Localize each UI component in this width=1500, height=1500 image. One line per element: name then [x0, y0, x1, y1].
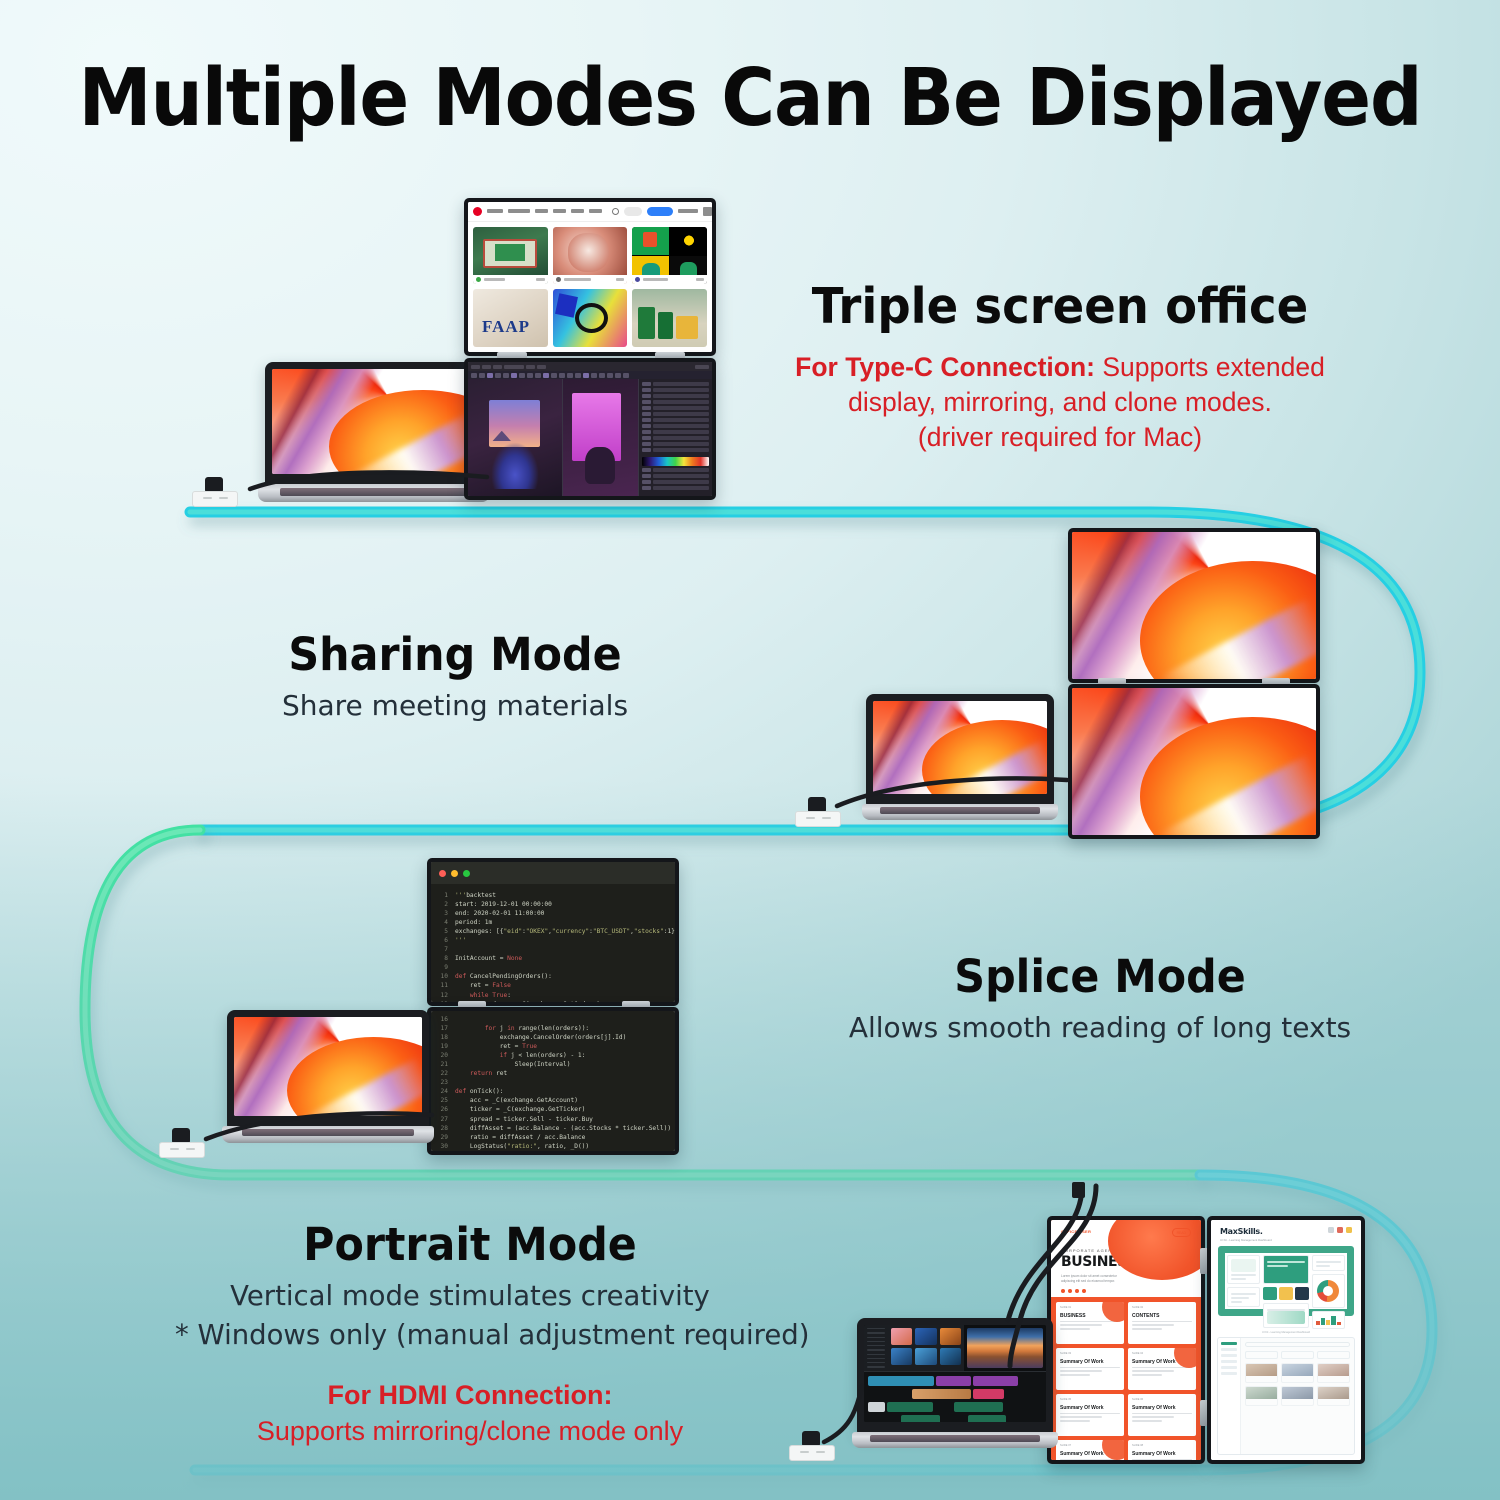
code-line: 11 ret = False [435, 981, 669, 990]
code-line: 21 Sleep(Interval) [435, 1060, 669, 1069]
donut-chart [1317, 1280, 1339, 1302]
gallery-card[interactable] [553, 227, 628, 285]
properties-panel[interactable] [639, 379, 712, 496]
section-portrait-mode: Portrait Mode Vertical mode stimulates c… [175, 1222, 765, 1449]
section-triple-screen-office: Triple screen office For Type-C Connecti… [760, 282, 1360, 455]
maxskills-screen: MaxSkills. UI Kit - Learning Management … [1211, 1220, 1361, 1460]
media-bin[interactable] [888, 1325, 964, 1371]
portable-monitor-bottom-code: 1617 for j in range(len(orders)):18 exch… [427, 1007, 679, 1155]
section-heading: Sharing Mode [251, 632, 660, 679]
minimize-icon[interactable] [451, 870, 458, 877]
ppt-thumbnail[interactable]: SLIDE 08Summary Of Work [1128, 1440, 1196, 1460]
portable-monitor-bottom-3d [464, 358, 716, 500]
section-subtitle-1: Vertical mode stimulates creativity [175, 1279, 765, 1314]
maxskills-tagline-2: UI Kit - Learning Management Dashboard [1211, 1331, 1361, 1334]
ppt-thumbnail[interactable]: SLIDE 06Summary Of Work [1128, 1394, 1196, 1436]
page-title: Multiple Modes Can Be Displayed [53, 52, 1448, 144]
section-heading: Triple screen office [775, 282, 1345, 333]
ppt-thumbnail[interactable]: SLIDE 07Summary Of Work [1056, 1440, 1124, 1460]
gallery-card[interactable] [553, 289, 628, 347]
3d-editor-screen [468, 362, 712, 496]
code-line: 20 if j < len(orders) - 1: [435, 1051, 669, 1060]
note-bold: For Type-C Connection: [795, 352, 1095, 382]
section-splice-mode: Splice Mode Allows smooth reading of lon… [815, 954, 1385, 1046]
wall-socket [789, 1445, 835, 1461]
portable-monitor-top-pinterest: FAAP [464, 198, 716, 356]
code-line: 19 ret = True [435, 1042, 669, 1051]
section-subtitle: Share meeting materials [240, 688, 670, 724]
code-line: 1'''backtest [435, 891, 669, 900]
gallery-card[interactable] [473, 227, 548, 285]
note-line3: (driver required for Mac) [760, 420, 1360, 455]
section-sharing-mode: Sharing Mode Share meeting materials [240, 632, 670, 724]
gallery-card[interactable] [632, 289, 707, 347]
thumb-title: Summary Of Work [1132, 1405, 1192, 1411]
nav-item[interactable] [571, 209, 584, 213]
code-editor-screen-bottom: 1617 for j in range(len(orders)):18 exch… [431, 1011, 675, 1151]
nav-item[interactable] [678, 209, 698, 213]
monitor-screen-wallpaper [1072, 532, 1316, 679]
secondary-button[interactable] [624, 207, 642, 216]
note-line2: Supports mirroring/clone mode only [175, 1414, 765, 1450]
monitor-screen-wallpaper [1072, 688, 1316, 835]
code-line: 18 exchange.CancelOrder(orders[j].Id) [435, 1033, 669, 1042]
code-line: 7 [435, 945, 669, 954]
viewport-render[interactable] [563, 379, 639, 496]
maxskills-showcase [1218, 1246, 1354, 1316]
code-line: 24def onTick(): [435, 1087, 669, 1096]
thumb-label: SLIDE 06 [1132, 1398, 1192, 1401]
wall-socket [159, 1142, 205, 1158]
maxskills-logo: MaxSkills. [1220, 1227, 1272, 1236]
code-line: 25 acc = _C(exchange.GetAccount) [435, 1096, 669, 1105]
power-cable [195, 455, 495, 515]
pinterest-logo-icon [473, 207, 482, 216]
gallery-navbar[interactable] [468, 202, 712, 222]
portable-monitor-upper-sharing [1068, 528, 1320, 683]
maxskills-header: MaxSkills. UI Kit - Learning Management … [1211, 1220, 1361, 1246]
gallery-grid: FAAP [468, 222, 712, 353]
code-line: 2start: 2019-12-01 00:00:00 [435, 900, 669, 909]
note-line2: display, mirroring, and clone modes. [760, 385, 1360, 420]
code-line: 28 diffAsset = (acc.Balance - (acc.Stock… [435, 1124, 669, 1133]
nav-item[interactable] [535, 209, 548, 213]
create-button[interactable] [647, 207, 673, 216]
code-line: 17 for j in range(len(orders)): [435, 1024, 669, 1033]
code-line: 23 [435, 1078, 669, 1087]
gallery-card[interactable] [632, 227, 707, 285]
gear-icon[interactable] [1328, 1227, 1334, 1233]
gallery-card[interactable]: FAAP [473, 289, 548, 347]
wall-socket [192, 491, 238, 507]
nav-item[interactable] [589, 209, 602, 213]
code-line: 6''' [435, 936, 669, 945]
code-line: 29 ratio = diffAsset / acc.Balance [435, 1133, 669, 1142]
thumb-label: SLIDE 05 [1060, 1398, 1120, 1401]
search-input[interactable] [1245, 1342, 1350, 1347]
code-line: 9 [435, 963, 669, 972]
thumb-title: Summary Of Work [1060, 1405, 1120, 1411]
section-subtitle-2: * Windows only (manual adjustment requir… [175, 1318, 765, 1353]
nav-item[interactable] [487, 209, 503, 213]
window-titlebar [431, 862, 675, 884]
category-row[interactable] [1245, 1351, 1350, 1359]
section-heading: Portrait Mode [190, 1222, 751, 1269]
ppt-tag[interactable]: READ [1172, 1228, 1191, 1237]
code-editor-screen-top: 1'''backtest2start: 2019-12-01 00:00:003… [431, 862, 675, 1002]
logo-part-b: Skills. [1238, 1227, 1263, 1236]
portable-monitor-right-maxskills: MaxSkills. UI Kit - Learning Management … [1207, 1216, 1365, 1464]
display-cable [1000, 1180, 1140, 1370]
maxskills-course-browser[interactable] [1217, 1337, 1355, 1455]
section-note: For Type-C Connection: Supports extended… [760, 350, 1360, 455]
code-line: 4period: 1m [435, 918, 669, 927]
browser-main [1241, 1338, 1354, 1454]
close-icon[interactable] [439, 870, 446, 877]
project-panel[interactable] [864, 1325, 888, 1371]
code-line: 26 ticker = _C(exchange.GetTicker) [435, 1105, 669, 1114]
nav-item[interactable] [553, 209, 566, 213]
maximize-icon[interactable] [463, 870, 470, 877]
portable-monitor-lower-sharing [1068, 684, 1320, 839]
code-line: 3end: 2020-02-01 11:00:00 [435, 909, 669, 918]
ppt-thumbnail[interactable]: SLIDE 05Summary Of Work [1056, 1394, 1124, 1436]
code-line: 27 spread = ticker.Sell - ticker.Buy [435, 1115, 669, 1124]
usb-c-plug [1072, 1182, 1085, 1198]
profile-icon[interactable] [703, 207, 712, 216]
code-line: 10def CancelPendingOrders(): [435, 972, 669, 981]
thumb-label: SLIDE 08 [1132, 1444, 1192, 1447]
search-icon[interactable] [612, 208, 619, 215]
bell-icon[interactable] [1346, 1227, 1352, 1233]
infographic-stage: Multiple Modes Can Be Displayed [0, 0, 1500, 1500]
note-bold: For HDMI Connection: [175, 1378, 765, 1414]
section-note: For HDMI Connection: Supports mirroring/… [175, 1378, 765, 1449]
section-heading: Splice Mode [829, 954, 1371, 1001]
app-toolbar[interactable] [468, 371, 712, 379]
nav-item[interactable] [508, 209, 530, 213]
thumb-title: Summary Of Work [1132, 1451, 1192, 1457]
logo-part-a: Max [1220, 1227, 1238, 1236]
thumb-label: SLIDE 02 [1132, 1306, 1192, 1309]
code-line: 8InitAccount = None [435, 954, 669, 963]
app-menubar[interactable] [468, 362, 712, 371]
thumb-title: CONTENTS [1132, 1313, 1192, 1319]
code-line: 12 while True: [435, 991, 669, 1000]
maxskills-tagline: UI Kit - Learning Management Dashboard [1220, 1238, 1272, 1242]
browser-sidebar[interactable] [1218, 1338, 1241, 1454]
code-line: 16 [435, 1015, 669, 1024]
code-line: 5exchanges: [{"eid":"OKEX","currency":"B… [435, 927, 669, 936]
design-gallery-screen: FAAP [468, 202, 712, 352]
card-icon[interactable] [1337, 1227, 1343, 1233]
note-rest: Supports extended [1095, 352, 1325, 382]
section-subtitle: Allows smooth reading of long texts [815, 1010, 1385, 1046]
portable-monitor-top-code: 1'''backtest2start: 2019-12-01 00:00:003… [427, 858, 679, 1006]
code-line: 22 return ret [435, 1069, 669, 1078]
code-lines-top[interactable]: 1'''backtest2start: 2019-12-01 00:00:003… [431, 884, 675, 1002]
color-ramp[interactable] [642, 457, 709, 466]
wall-socket [795, 811, 841, 827]
code-lines-bottom[interactable]: 1617 for j in range(len(orders)):18 exch… [431, 1011, 675, 1151]
code-line: 30 LogStatus("ratio:", ratio, _D()) [435, 1142, 669, 1151]
course-cards[interactable] [1245, 1363, 1350, 1406]
